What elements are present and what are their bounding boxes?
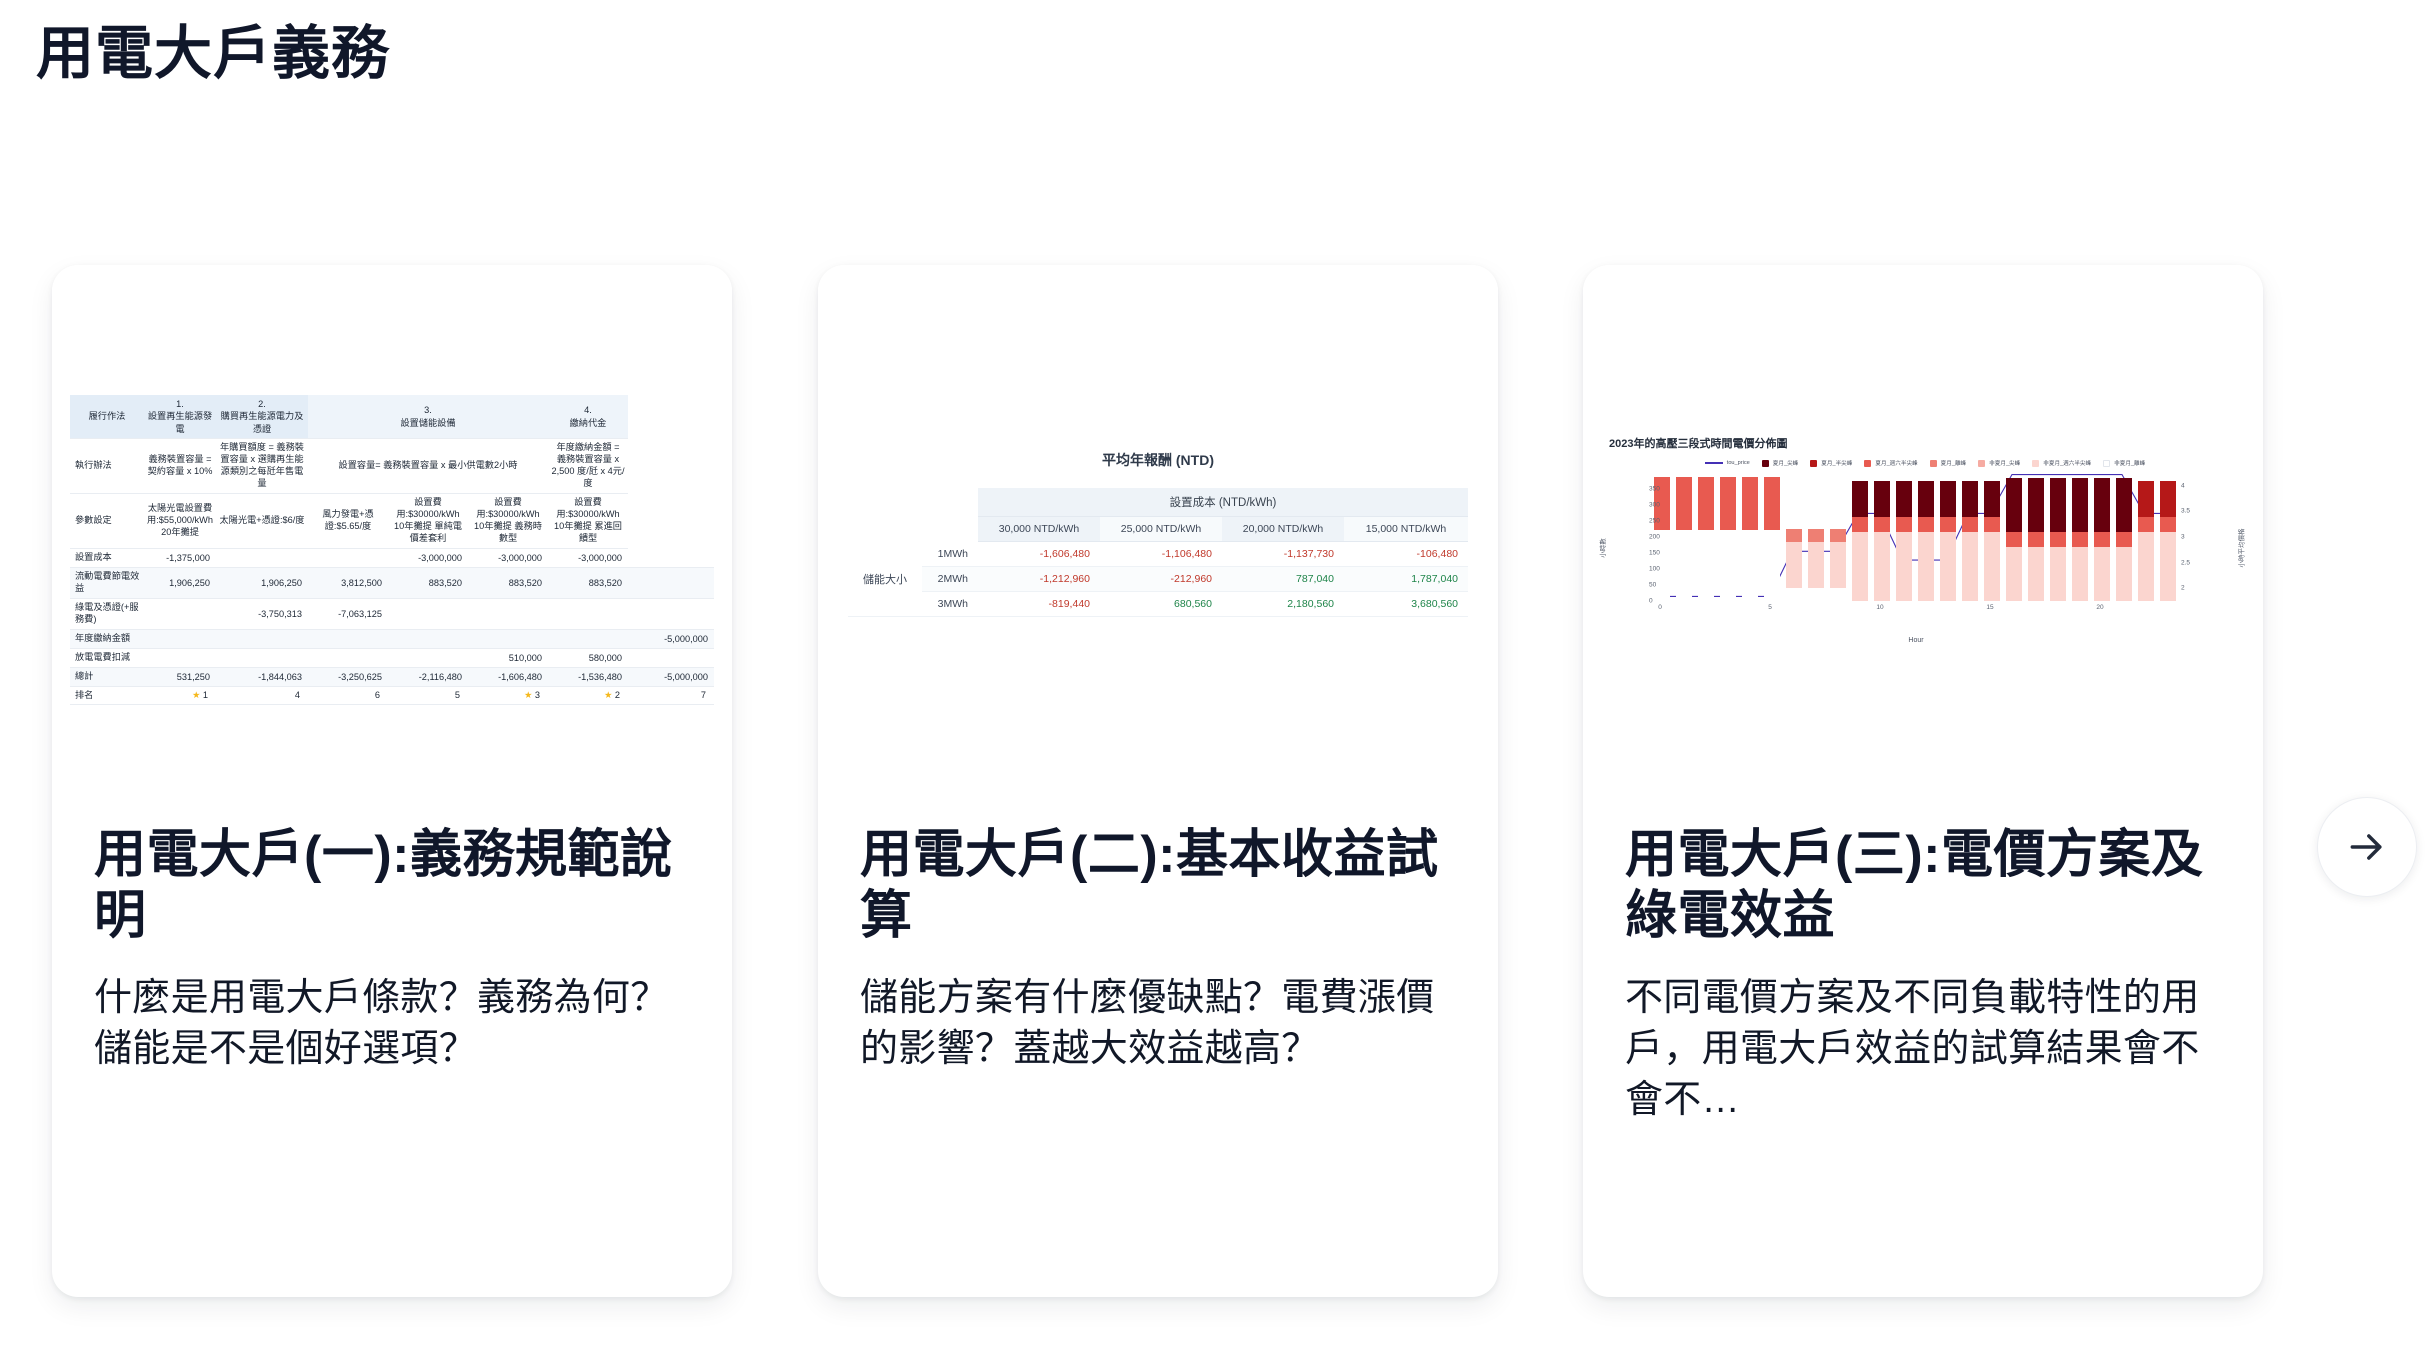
- chart-bar: [1852, 473, 1868, 601]
- chart-bar-segment: [2116, 547, 2132, 601]
- table-row: 年度繳納金額-5,000,000: [70, 629, 714, 648]
- table-cell: -1,844,063: [216, 667, 308, 686]
- legend-swatch-icon: [2103, 460, 2110, 467]
- chart-bar-segment: [1852, 532, 1868, 601]
- chart-bar-segment: [1808, 542, 1824, 587]
- param-cell-5: 設置費用:$30000/kWh 10年攤提 義務時數型: [468, 494, 548, 549]
- table-row-rank: 排名 ★ 1 4 6 5 ★ 3 ★ 2 7: [70, 686, 714, 705]
- table-row-header: 履行作法 1. 設置再生能源發電 2. 購買再生能源電力及憑證 3.: [70, 395, 714, 439]
- annual-return-table: 平均年報酬 (NTD) 設置成本 (NTD/kWh) 30,000 NT: [848, 450, 1468, 617]
- chart-bar: [1720, 473, 1736, 601]
- table-cell: 531,250: [144, 667, 216, 686]
- chart-bar-segment: [2050, 547, 2066, 601]
- cost-col-2: 25,000 NTD/kWh: [1100, 517, 1222, 542]
- chart-bar-segment: [2138, 481, 2154, 516]
- rank-cell-1: ★ 1: [144, 686, 216, 705]
- legend-label: 夏月_週六半尖峰: [1875, 459, 1917, 467]
- table-cell: 1,906,250: [144, 567, 216, 598]
- chart-bar-segment: [1698, 530, 1714, 601]
- table-cell: -1,606,480: [468, 667, 548, 686]
- legend-line-icon: [1705, 462, 1723, 464]
- chart-bar: [1808, 473, 1824, 601]
- chart-bar-segment: [2094, 532, 2110, 547]
- chart-bar: [1940, 473, 1956, 601]
- annual-return-table-body: 儲能大小1MWh-1,606,480-1,106,480-1,137,730-1…: [848, 542, 1468, 617]
- card-1-body: 用電大戶(一):義務規範說明 什麼是用電大戶條款？義務為何？儲能是不是個好選項？: [52, 825, 732, 1075]
- y2-tick-label: 4: [2181, 482, 2185, 489]
- chart-bar-segment: [1742, 477, 1758, 530]
- chart-bar-segment: [1896, 481, 1912, 516]
- table-row: 儲能大小1MWh-1,606,480-1,106,480-1,137,730-1…: [848, 542, 1468, 567]
- table-cell: 883,520: [548, 567, 628, 598]
- table-cell: -1,137,730: [1222, 542, 1344, 567]
- header-col-3-num: 3.: [424, 405, 432, 415]
- table-cell: 2,180,560: [1222, 592, 1344, 617]
- table-cell: [308, 648, 388, 667]
- y2-tick-label: 2: [2181, 585, 2185, 592]
- legend-label: tou_price: [1727, 460, 1750, 466]
- row-label-method: 執行辦法: [70, 439, 144, 494]
- chart-bar-segment: [1940, 481, 1956, 516]
- table-cell: -3,000,000: [388, 548, 468, 567]
- chart-bar-segment: [1962, 532, 1978, 601]
- cost-col-4: 15,000 NTD/kWh: [1344, 517, 1468, 542]
- table-cell: -3,000,000: [468, 548, 548, 567]
- rank-cell-2: 4: [216, 686, 308, 705]
- chart-bar-segment: [2006, 547, 2022, 601]
- legend-swatch-icon: [2032, 460, 2039, 467]
- rank-cell-6: ★ 2: [548, 686, 628, 705]
- chart-bar-segment: [2116, 532, 2132, 547]
- legend-swatch-icon: [1864, 460, 1871, 467]
- legend-swatch-icon: [1762, 460, 1769, 467]
- x-tick-label: 0: [1658, 604, 1662, 611]
- annual-return-title: 平均年報酬 (NTD): [848, 450, 1468, 470]
- article-card-3[interactable]: 2023年的高壓三段式時間電價分佈圖 tou_price夏月_尖峰夏月_半尖峰夏…: [1583, 265, 2263, 1297]
- chart-bar-segment: [1808, 588, 1824, 601]
- row-label: 年度繳納金額: [70, 629, 144, 648]
- page-root: 用電大戶義務 履行作法 1. 設置再生能源發電: [0, 0, 2434, 1354]
- star-icon: ★: [192, 690, 200, 700]
- table-row-method: 執行辦法 義務裝置容量 = 契約容量 x 10% 年購買額度 = 義務裝置容量 …: [70, 439, 714, 494]
- x-tick-label: 10: [1876, 604, 1883, 611]
- chart-bar-segment: [1786, 542, 1802, 587]
- table-cell: -1,606,480: [978, 542, 1100, 567]
- table-cell: -212,960: [1100, 567, 1222, 592]
- table-row: 放電電費扣減510,000580,000: [70, 648, 714, 667]
- article-card-1[interactable]: 履行作法 1. 設置再生能源發電 2. 購買再生能源電力及憑證 3.: [52, 265, 732, 1297]
- chart-bar: [1742, 473, 1758, 601]
- legend-label: 非夏月_週六半尖峰: [2043, 459, 2091, 467]
- carousel-next-button[interactable]: [2317, 797, 2417, 897]
- table-cell: -1,375,000: [144, 548, 216, 567]
- chart-bar: [1984, 473, 2000, 601]
- cost-col-3: 20,000 NTD/kWh: [1222, 517, 1344, 542]
- chart-legend: tou_price夏月_尖峰夏月_半尖峰夏月_週六半尖峰夏月_離峰非夏月_尖峰非…: [1601, 459, 2249, 467]
- row-label: 總計: [70, 667, 144, 686]
- chart-bar-segment: [1918, 532, 1934, 601]
- legend-item: 夏月_半尖峰: [1810, 459, 1852, 467]
- table-cell: [144, 629, 216, 648]
- rank-cell-7: 7: [628, 686, 714, 705]
- table-cell: 883,520: [468, 567, 548, 598]
- chart-bar: [1874, 473, 1890, 601]
- table-cell: [388, 598, 468, 629]
- chart-bar: [2138, 473, 2154, 601]
- header-col-2-text: 購買再生能源電力及憑證: [221, 411, 304, 433]
- chart-bar-segment: [1984, 532, 2000, 601]
- rank-cell-3: 6: [308, 686, 388, 705]
- table-cell: -7,063,125: [308, 598, 388, 629]
- table-row: 3MWh-819,440680,5602,180,5603,680,560: [848, 592, 1468, 617]
- arrow-right-icon: [2345, 825, 2389, 869]
- table-row: 2MWh-1,212,960-212,960787,0401,787,040: [848, 567, 1468, 592]
- table-cell: 1,787,040: [1344, 567, 1468, 592]
- chart-bar-segment: [1874, 481, 1890, 516]
- chart-x-axis-label: Hour: [1908, 637, 1923, 644]
- star-icon: ★: [604, 690, 612, 700]
- article-carousel: 履行作法 1. 設置再生能源發電 2. 購買再生能源電力及憑證 3.: [0, 255, 2434, 1315]
- card-2-title: 用電大戶(二):基本收益試算: [860, 825, 1456, 947]
- chart-bar-segment: [2138, 517, 2154, 532]
- chart-bar-segment: [1918, 481, 1934, 516]
- header-col-4: 4. 繳納代金: [548, 395, 628, 439]
- table-cell: [628, 648, 714, 667]
- row-group-label: 儲能大小: [848, 542, 922, 617]
- table-cell: -3,000,000: [548, 548, 628, 567]
- table-cell: [468, 629, 548, 648]
- table-cell: -1,212,960: [978, 567, 1100, 592]
- table-cell: -2,116,480: [388, 667, 468, 686]
- method-cell-4: 年度繳納金額 = 義務裝置容量 x 2,500 度/瓩 x 4元/度: [548, 439, 628, 494]
- chart-bar-segment: [2138, 532, 2154, 601]
- table-cell: [548, 629, 628, 648]
- param-cell-1: 太陽光電設置費用:$55,000/kWh 20年攤提: [144, 494, 216, 549]
- chart-bar-segment: [2028, 532, 2044, 547]
- param-cell-6: 設置費用:$30000/kWh 10年攤提 累進回饋型: [548, 494, 628, 549]
- table-cell: -5,000,000: [628, 667, 714, 686]
- chart-bar-segment: [1764, 530, 1780, 601]
- table-cell: 3,680,560: [1344, 592, 1468, 617]
- legend-item: 非夏月_尖峰: [1978, 459, 2020, 467]
- chart-bar: [1698, 473, 1714, 601]
- chart-bar-segment: [2072, 478, 2088, 532]
- chart-bar-segment: [1962, 517, 1978, 532]
- rank-cell-4: 5: [388, 686, 468, 705]
- chart-bar-segment: [2050, 478, 2066, 532]
- table-row-group-header: 設置成本 (NTD/kWh): [848, 488, 1468, 517]
- header-col-1: 1. 設置再生能源發電: [144, 395, 216, 439]
- cost-col-1: 30,000 NTD/kWh: [978, 517, 1100, 542]
- chart-bar-segment: [2094, 547, 2110, 601]
- chart-bar-segment: [2006, 532, 2022, 547]
- table-cell: 580,000: [548, 648, 628, 667]
- table-cell: 510,000: [468, 648, 548, 667]
- chart-bar-segment: [2050, 532, 2066, 547]
- article-card-2[interactable]: 平均年報酬 (NTD) 設置成本 (NTD/kWh) 30,000 NT: [818, 265, 1498, 1297]
- legend-label: 夏月_離峰: [1941, 459, 1967, 467]
- row-label-params: 參數設定: [70, 494, 144, 549]
- chart-bar-segment: [1830, 542, 1846, 587]
- chart-bar-segment: [1940, 517, 1956, 532]
- card-3-body: 用電大戶(三):電價方案及綠電效益 不同電價方案及不同負載特性的用戶，用電大戶效…: [1583, 825, 2263, 1127]
- table-cell: [468, 598, 548, 629]
- chart-bar-segment: [1830, 529, 1846, 542]
- chart-bar: [1786, 473, 1802, 601]
- y2-tick-label: 3.5: [2181, 508, 2190, 515]
- chart-y2-axis-label: 小時平均價格: [2236, 529, 2246, 568]
- chart-bar: [1918, 473, 1934, 601]
- chart-bar: [2050, 473, 2066, 601]
- row-label: 設置成本: [70, 548, 144, 567]
- card-2-description: 儲能方案有什麼優缺點？電費漲價的影響？蓋越大效益越高？: [860, 973, 1456, 1076]
- obligation-table-body: 設置成本-1,375,000-3,000,000-3,000,000-3,000…: [70, 548, 714, 686]
- chart-bar-segment: [1962, 481, 1978, 516]
- chart-bar-segment: [2072, 532, 2088, 547]
- x-tick-label: 20: [2096, 604, 2103, 611]
- legend-label: 非夏月_尖峰: [1989, 459, 2020, 467]
- chart-bar-segment: [1720, 477, 1736, 530]
- table-cell: [144, 648, 216, 667]
- row-label: 3MWh: [922, 592, 978, 617]
- header-col-3-text: 設置儲能設備: [400, 418, 455, 428]
- method-cell-1: 義務裝置容量 = 契約容量 x 10%: [144, 439, 216, 494]
- legend-label: 夏月_半尖峰: [1821, 459, 1852, 467]
- param-cell-3: 風力發電+憑證:$5.65/度: [308, 494, 388, 549]
- table-cell: -5,000,000: [628, 629, 714, 648]
- chart-bar-segment: [1830, 588, 1846, 601]
- chart-bars-container: [1649, 473, 2177, 601]
- chart-bar-segment: [1984, 517, 2000, 532]
- chart-bar-segment: [1676, 477, 1692, 530]
- chart-bar-segment: [1918, 517, 1934, 532]
- legend-swatch-icon: [1930, 460, 1937, 467]
- chart-bar-segment: [1940, 532, 1956, 601]
- table-cell: -3,750,313: [216, 598, 308, 629]
- chart-plot-area: 050100150200250300350 22.533.54 05101520…: [1627, 473, 2205, 623]
- table-cell: [388, 629, 468, 648]
- legend-item: 夏月_離峰: [1930, 459, 1967, 467]
- legend-item: 夏月_尖峰: [1762, 459, 1799, 467]
- card-3-title: 用電大戶(三):電價方案及綠電效益: [1625, 825, 2221, 947]
- chart-bar-segment: [2072, 547, 2088, 601]
- chart-bar-segment: [1874, 517, 1890, 532]
- card-1-thumbnail: 履行作法 1. 設置再生能源發電 2. 購買再生能源電力及憑證 3.: [52, 265, 732, 825]
- star-icon: ★: [524, 690, 532, 700]
- chart-bar: [1830, 473, 1846, 601]
- header-col-1-text: 設置再生能源發電: [148, 411, 212, 433]
- table-cell: 1,906,250: [216, 567, 308, 598]
- row-label-rank: 排名: [70, 686, 144, 705]
- header-col-1-num: 1.: [176, 399, 184, 409]
- rank-cell-5: ★ 3: [468, 686, 548, 705]
- header-col-3: 3. 設置儲能設備: [308, 395, 548, 439]
- chart-bar-segment: [1786, 588, 1802, 601]
- row-label: 流動電費節電效益: [70, 567, 144, 598]
- method-cell-3: 設置容量= 義務裝置容量 x 最小供電數2小時: [308, 439, 548, 494]
- card-3-thumbnail: 2023年的高壓三段式時間電價分佈圖 tou_price夏月_尖峰夏月_半尖峰夏…: [1583, 265, 2263, 825]
- table-cell: [388, 648, 468, 667]
- table-cell: [308, 548, 388, 567]
- cost-group-header: 設置成本 (NTD/kWh): [978, 488, 1468, 517]
- chart-bar: [1764, 473, 1780, 601]
- chart-bar-segment: [1984, 481, 2000, 516]
- x-tick-label: 5: [1768, 604, 1772, 611]
- chart-bar-segment: [1698, 477, 1714, 530]
- chart-bar: [1962, 473, 1978, 601]
- chart-title: 2023年的高壓三段式時間電價分佈圖: [1609, 435, 2249, 451]
- legend-item: 非夏月_週六半尖峰: [2032, 459, 2091, 467]
- table-cell: 680,560: [1100, 592, 1222, 617]
- chart-bar-segment: [2116, 478, 2132, 532]
- chart-bar-segment: [1896, 532, 1912, 601]
- chart-bar-segment: [2028, 478, 2044, 532]
- chart-bar-segment: [2160, 481, 2176, 516]
- chart-y-axis-label: 小時數: [1596, 538, 1606, 558]
- table-cell: -1,106,480: [1100, 542, 1222, 567]
- chart-bar-segment: [1852, 481, 1868, 516]
- legend-swatch-icon: [1978, 460, 1985, 467]
- page-title: 用電大戶義務: [36, 22, 390, 86]
- legend-item: tou_price: [1705, 460, 1750, 466]
- legend-item: 非夏月_離峰: [2103, 459, 2145, 467]
- chart-bar: [1896, 473, 1912, 601]
- table-row-params: 參數設定 太陽光電設置費用:$55,000/kWh 20年攤提 太陽光電+憑證:…: [70, 494, 714, 549]
- table-cell: [216, 629, 308, 648]
- legend-item: 夏月_週六半尖峰: [1864, 459, 1917, 467]
- chart-bar: [2116, 473, 2132, 601]
- chart-bar-segment: [2028, 547, 2044, 601]
- chart-bar-segment: [2160, 532, 2176, 601]
- legend-label: 夏月_尖峰: [1773, 459, 1799, 467]
- y2-tick-label: 2.5: [2181, 559, 2190, 566]
- chart-bar-segment: [1764, 477, 1780, 530]
- chart-bar-segment: [2006, 478, 2022, 532]
- header-col-4-num: 4.: [584, 405, 592, 415]
- table-cell: 787,040: [1222, 567, 1344, 592]
- chart-bar-segment: [1720, 530, 1736, 601]
- table-cell: -1,536,480: [548, 667, 628, 686]
- table-row: 總計531,250-1,844,063-3,250,625-2,116,480-…: [70, 667, 714, 686]
- table-cell: -819,440: [978, 592, 1100, 617]
- table-cell: [216, 548, 308, 567]
- row-label: 1MWh: [922, 542, 978, 567]
- card-1-title: 用電大戶(一):義務規範說明: [94, 825, 690, 947]
- header-col-2-num: 2.: [258, 399, 266, 409]
- card-3-description: 不同電價方案及不同負載特性的用戶，用電大戶效益的試算結果會不會不…: [1625, 973, 2221, 1127]
- chart-bar: [2028, 473, 2044, 601]
- chart-bar-segment: [1896, 517, 1912, 532]
- table-cell: [144, 598, 216, 629]
- tou-price-chart: 2023年的高壓三段式時間電價分佈圖 tou_price夏月_尖峰夏月_半尖峰夏…: [1601, 435, 2249, 675]
- x-tick-label: 15: [1986, 604, 1993, 611]
- obligation-methods-table: 履行作法 1. 設置再生能源發電 2. 購買再生能源電力及憑證 3.: [70, 395, 714, 705]
- table-cell: [216, 648, 308, 667]
- row-label: 綠電及憑證(+服務費): [70, 598, 144, 629]
- chart-bar-segment: [1852, 517, 1868, 532]
- chart-bar-segment: [1874, 532, 1890, 601]
- row-label: 2MWh: [922, 567, 978, 592]
- table-cell: [628, 548, 714, 567]
- chart-bar: [2160, 473, 2176, 601]
- row-label: 放電電費扣減: [70, 648, 144, 667]
- table-cell: [628, 567, 714, 598]
- legend-label: 非夏月_離峰: [2114, 459, 2145, 467]
- param-cell-4: 設置費用:$30000/kWh 10年攤提 單純電價差套利: [388, 494, 468, 549]
- chart-bar-segment: [1742, 530, 1758, 601]
- chart-bar-segment: [1676, 530, 1692, 601]
- table-cell: [548, 598, 628, 629]
- table-cell: 3,812,500: [308, 567, 388, 598]
- table-cell: -3,250,625: [308, 667, 388, 686]
- table-row: 設置成本-1,375,000-3,000,000-3,000,000-3,000…: [70, 548, 714, 567]
- header-col-4-text: 繳納代金: [570, 418, 607, 428]
- chart-bar-segment: [2160, 517, 2176, 532]
- chart-bar: [1676, 473, 1692, 601]
- method-cell-2: 年購買額度 = 義務裝置容量 x 選購再生能源類別之每瓩年售電量: [216, 439, 308, 494]
- table-row: 流動電費節電效益1,906,2501,906,2503,812,500883,5…: [70, 567, 714, 598]
- chart-bar: [2094, 473, 2110, 601]
- card-2-body: 用電大戶(二):基本收益試算 儲能方案有什麼優缺點？電費漲價的影響？蓋越大效益越…: [818, 825, 1498, 1075]
- chart-bar-segment: [1786, 529, 1802, 542]
- param-cell-2: 太陽光電+憑證:$6/度: [216, 494, 308, 549]
- card-1-description: 什麼是用電大戶條款？義務為何？儲能是不是個好選項？: [94, 973, 690, 1076]
- table-cell: -106,480: [1344, 542, 1468, 567]
- chart-bar: [2006, 473, 2022, 601]
- header-col-2: 2. 購買再生能源電力及憑證: [216, 395, 308, 439]
- chart-bar-segment: [2094, 478, 2110, 532]
- table-cell: [628, 598, 714, 629]
- card-2-thumbnail: 平均年報酬 (NTD) 設置成本 (NTD/kWh) 30,000 NT: [818, 265, 1498, 825]
- header-method-label: 履行作法: [70, 395, 144, 439]
- table-row: 綠電及憑證(+服務費)-3,750,313-7,063,125: [70, 598, 714, 629]
- table-row-subheader: 30,000 NTD/kWh 25,000 NTD/kWh 20,000 NTD…: [848, 517, 1468, 542]
- legend-swatch-icon: [1810, 460, 1817, 467]
- chart-bar-segment: [1808, 529, 1824, 542]
- y2-tick-label: 3: [2181, 534, 2185, 541]
- table-cell: [308, 629, 388, 648]
- table-cell: 883,520: [388, 567, 468, 598]
- chart-bar: [2072, 473, 2088, 601]
